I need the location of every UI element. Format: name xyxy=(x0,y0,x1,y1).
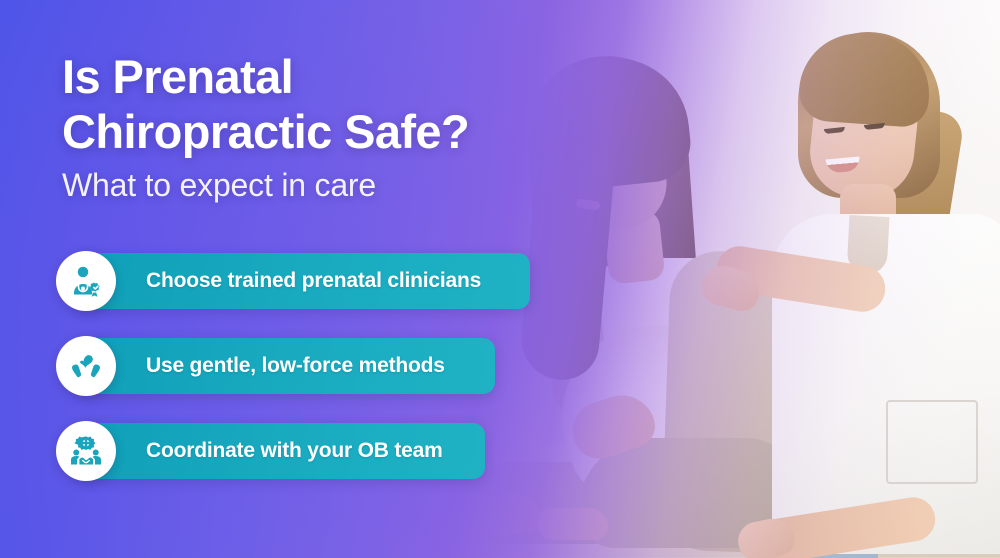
bullet-pill-clinicians[interactable]: Choose trained prenatal clinicians xyxy=(78,253,530,309)
bullet-label: Coordinate with your OB team xyxy=(146,439,443,463)
hands-cradling-baby-icon xyxy=(56,336,116,396)
bullet-label: Use gentle, low-force methods xyxy=(146,354,445,378)
clinician-certified-icon xyxy=(56,251,116,311)
team-collaboration-gear-icon xyxy=(56,421,116,481)
page-title: Is Prenatal Chiropractic Safe? xyxy=(62,50,469,160)
page-subtitle: What to expect in care xyxy=(62,167,376,204)
bullet-pill-gentle-methods[interactable]: Use gentle, low-force methods xyxy=(78,338,495,394)
bullet-pill-ob-team[interactable]: Coordinate with your OB team xyxy=(78,423,485,479)
prenatal-chiropractic-banner: Is Prenatal Chiropractic Safe? What to e… xyxy=(0,0,1000,558)
bullet-label: Choose trained prenatal clinicians xyxy=(146,269,481,293)
banner-content: Is Prenatal Chiropractic Safe? What to e… xyxy=(0,0,1000,558)
